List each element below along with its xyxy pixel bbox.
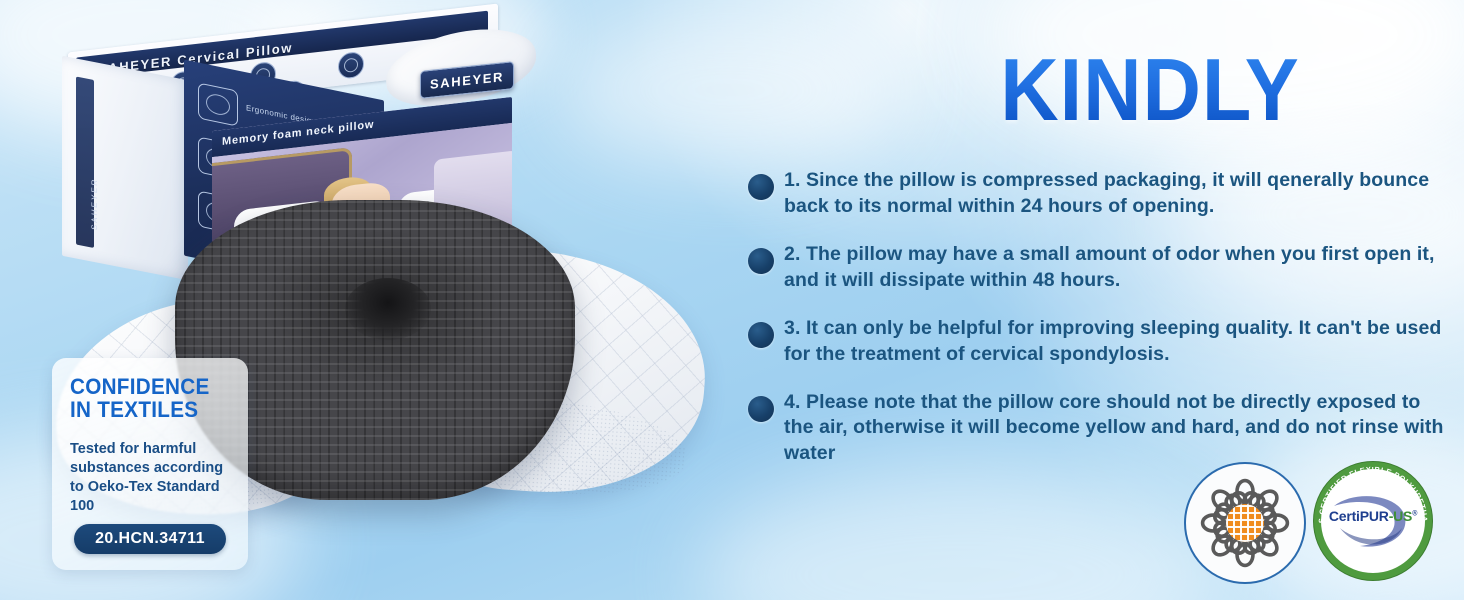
oeko-body-text: Tested for harmful substances according … xyxy=(70,440,238,517)
notes-list: 1. Since the pillow is compressed packag… xyxy=(738,168,1454,489)
globe-icon xyxy=(1226,504,1264,542)
product-imagery: SAHEYER Cervical Pillow SAHEYER xyxy=(0,0,720,600)
product-marketing-banner: SAHEYER Cervical Pillow SAHEYER xyxy=(0,0,1464,600)
bullet-icon xyxy=(748,396,774,422)
certipur-brand: CertiPUR xyxy=(1329,508,1389,524)
certipur-wordmark: CertiPUR-US® xyxy=(1314,508,1432,524)
page-title: KINDLY NOTES xyxy=(865,44,1435,136)
list-item: 3. It can only be helpful for improving … xyxy=(738,316,1454,368)
notes-section: KINDLY NOTES 1. Since the pillow is comp… xyxy=(720,0,1464,600)
certipur-suffix: -US xyxy=(1389,508,1413,524)
bullet-icon xyxy=(748,174,774,200)
oeko-heading-line1: CONFIDENCE xyxy=(70,376,230,399)
note-text: 2. The pillow may have a small amount of… xyxy=(784,242,1454,294)
list-item: 4. Please note that the pillow core shou… xyxy=(738,390,1454,468)
oeko-tex-panel: CONFIDENCE IN TEXTILES Tested for harmfu… xyxy=(52,358,248,570)
certification-seals: CONTAINS CERTIFIED FLEXIBLE POLYURETHANE… xyxy=(1184,462,1444,592)
bullet-icon xyxy=(748,248,774,274)
oeko-heading: CONFIDENCE IN TEXTILES xyxy=(70,376,230,422)
ergonomic-icon xyxy=(198,83,238,127)
bullet-icon xyxy=(748,322,774,348)
list-item: 2. The pillow may have a small amount of… xyxy=(738,242,1454,294)
note-text: 3. It can only be helpful for improving … xyxy=(784,316,1454,368)
note-text: 1. Since the pillow is compressed packag… xyxy=(784,168,1454,220)
oeko-tex-confidence-mark-icon xyxy=(1184,462,1306,584)
oeko-certificate-pill: 20.HCN.34711 xyxy=(74,524,226,554)
head-cradle-dimple xyxy=(345,278,431,340)
oeko-heading-line2: IN TEXTILES xyxy=(70,399,230,422)
certipur-us-seal-icon: CONTAINS CERTIFIED FLEXIBLE POLYURETHANE… xyxy=(1314,462,1432,580)
note-text: 4. Please note that the pillow core shou… xyxy=(784,390,1454,468)
oeko-certificate-number: 20.HCN.34711 xyxy=(95,530,205,548)
list-item: 1. Since the pillow is compressed packag… xyxy=(738,168,1454,220)
cert-badge-icon xyxy=(338,51,364,80)
